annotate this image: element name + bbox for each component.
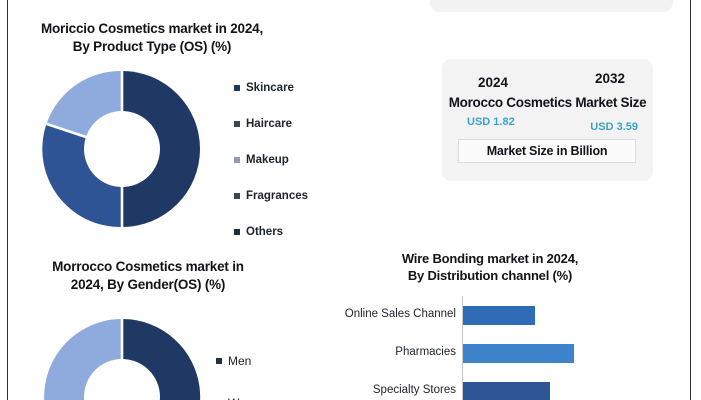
legend-swatch-icon — [234, 157, 240, 163]
gender-title-line1: Morrocco Cosmetics market in — [28, 258, 268, 276]
market-size-values: USD 1.82 USD 3.59 — [442, 116, 653, 128]
bar-category-label: Pharmacies — [312, 346, 456, 358]
bar-category-label: Specialty Stores — [312, 384, 456, 396]
market-size-end-year: 2032 — [595, 71, 625, 86]
legend-item-men[interactable]: Men — [216, 340, 269, 382]
gender-donut-svg — [32, 312, 212, 400]
distribution-title-line1: Wire Bonding market in 2024, — [345, 250, 635, 267]
product-type-chart-title: Moriccio Cosmetics market in 2024, By Pr… — [22, 20, 282, 56]
page-border-right — [690, 0, 691, 400]
product-type-legend: Skincare Haircare Makeup Fragrances Othe… — [234, 70, 308, 250]
bar-category-label: Online Sales Channel — [312, 308, 456, 320]
market-size-start-value: USD 1.82 — [467, 116, 515, 128]
market-size-unit-box: Market Size in Billion — [458, 139, 636, 163]
product-type-donut-svg — [32, 65, 212, 233]
product-type-donut-chart — [32, 65, 212, 233]
gender-title-line2: 2024, By Gender(OS) (%) — [28, 276, 268, 294]
gender-legend: Men Women — [216, 340, 269, 400]
gender-donut-chart — [32, 312, 212, 400]
market-size-heading: Morocco Cosmetics Market Size — [442, 95, 653, 110]
infographic-canvas: Moriccio Cosmetics market in 2024, By Pr… — [0, 0, 701, 400]
market-size-card: 2024 2032 Morocco Cosmetics Market Size … — [442, 59, 653, 181]
legend-item-others[interactable]: Others — [234, 214, 308, 250]
bar-pharmacies — [463, 344, 574, 363]
legend-label: Others — [246, 226, 283, 238]
market-size-start-year: 2024 — [478, 75, 508, 90]
legend-item-women[interactable]: Women — [216, 382, 269, 400]
legend-label: Haircare — [246, 118, 292, 130]
legend-label: Skincare — [246, 82, 294, 94]
page-border-left — [7, 0, 8, 400]
legend-label: Makeup — [246, 154, 289, 166]
market-size-unit-label: Market Size in Billion — [487, 144, 608, 158]
legend-swatch-icon — [234, 193, 240, 199]
product-type-title-line1: Moriccio Cosmetics market in 2024, — [22, 20, 282, 38]
legend-item-fragrances[interactable]: Fragrances — [234, 178, 308, 214]
legend-swatch-icon — [216, 358, 222, 364]
top-clipped-panel — [430, 0, 673, 12]
distribution-chart-title: Wire Bonding market in 2024, By Distribu… — [345, 250, 635, 284]
distribution-bar-chart: Online Sales Channel Pharmacies Specialt… — [312, 296, 690, 400]
product-type-title-line2: By Product Type (OS) (%) — [22, 38, 282, 56]
bar-specialty-stores — [463, 382, 550, 400]
gender-chart-title: Morrocco Cosmetics market in 2024, By Ge… — [28, 258, 268, 294]
legend-swatch-icon — [234, 121, 240, 127]
legend-label: Women — [228, 396, 269, 400]
legend-swatch-icon — [234, 85, 240, 91]
legend-swatch-icon — [234, 229, 240, 235]
legend-item-haircare[interactable]: Haircare — [234, 106, 308, 142]
legend-item-skincare[interactable]: Skincare — [234, 70, 308, 106]
market-size-end-value: USD 3.59 — [590, 121, 638, 133]
legend-label: Fragrances — [246, 190, 308, 202]
legend-item-makeup[interactable]: Makeup — [234, 142, 308, 178]
legend-label: Men — [228, 354, 251, 368]
market-size-years: 2024 2032 — [442, 75, 653, 90]
bar-online-sales-channel — [463, 306, 535, 325]
donut-hole — [84, 111, 160, 187]
distribution-title-line2: By Distribution channel (%) — [345, 267, 635, 284]
